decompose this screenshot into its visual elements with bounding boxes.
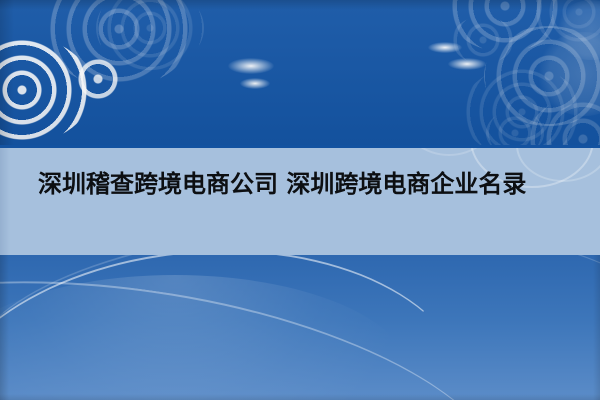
page-title: 深圳稽查跨境电商公司 深圳跨境电商企业名录 <box>38 168 566 201</box>
footer-shading <box>0 255 600 400</box>
header-ring-graphic <box>0 0 600 148</box>
footer-swoosh-graphic <box>0 255 600 400</box>
band-edge-shading <box>0 148 600 255</box>
banner-image: 深圳稽查跨境电商公司 深圳跨境电商企业名录 <box>0 0 600 400</box>
header-shading <box>0 0 600 148</box>
title-band: 深圳稽查跨境电商公司 深圳跨境电商企业名录 <box>0 148 600 255</box>
